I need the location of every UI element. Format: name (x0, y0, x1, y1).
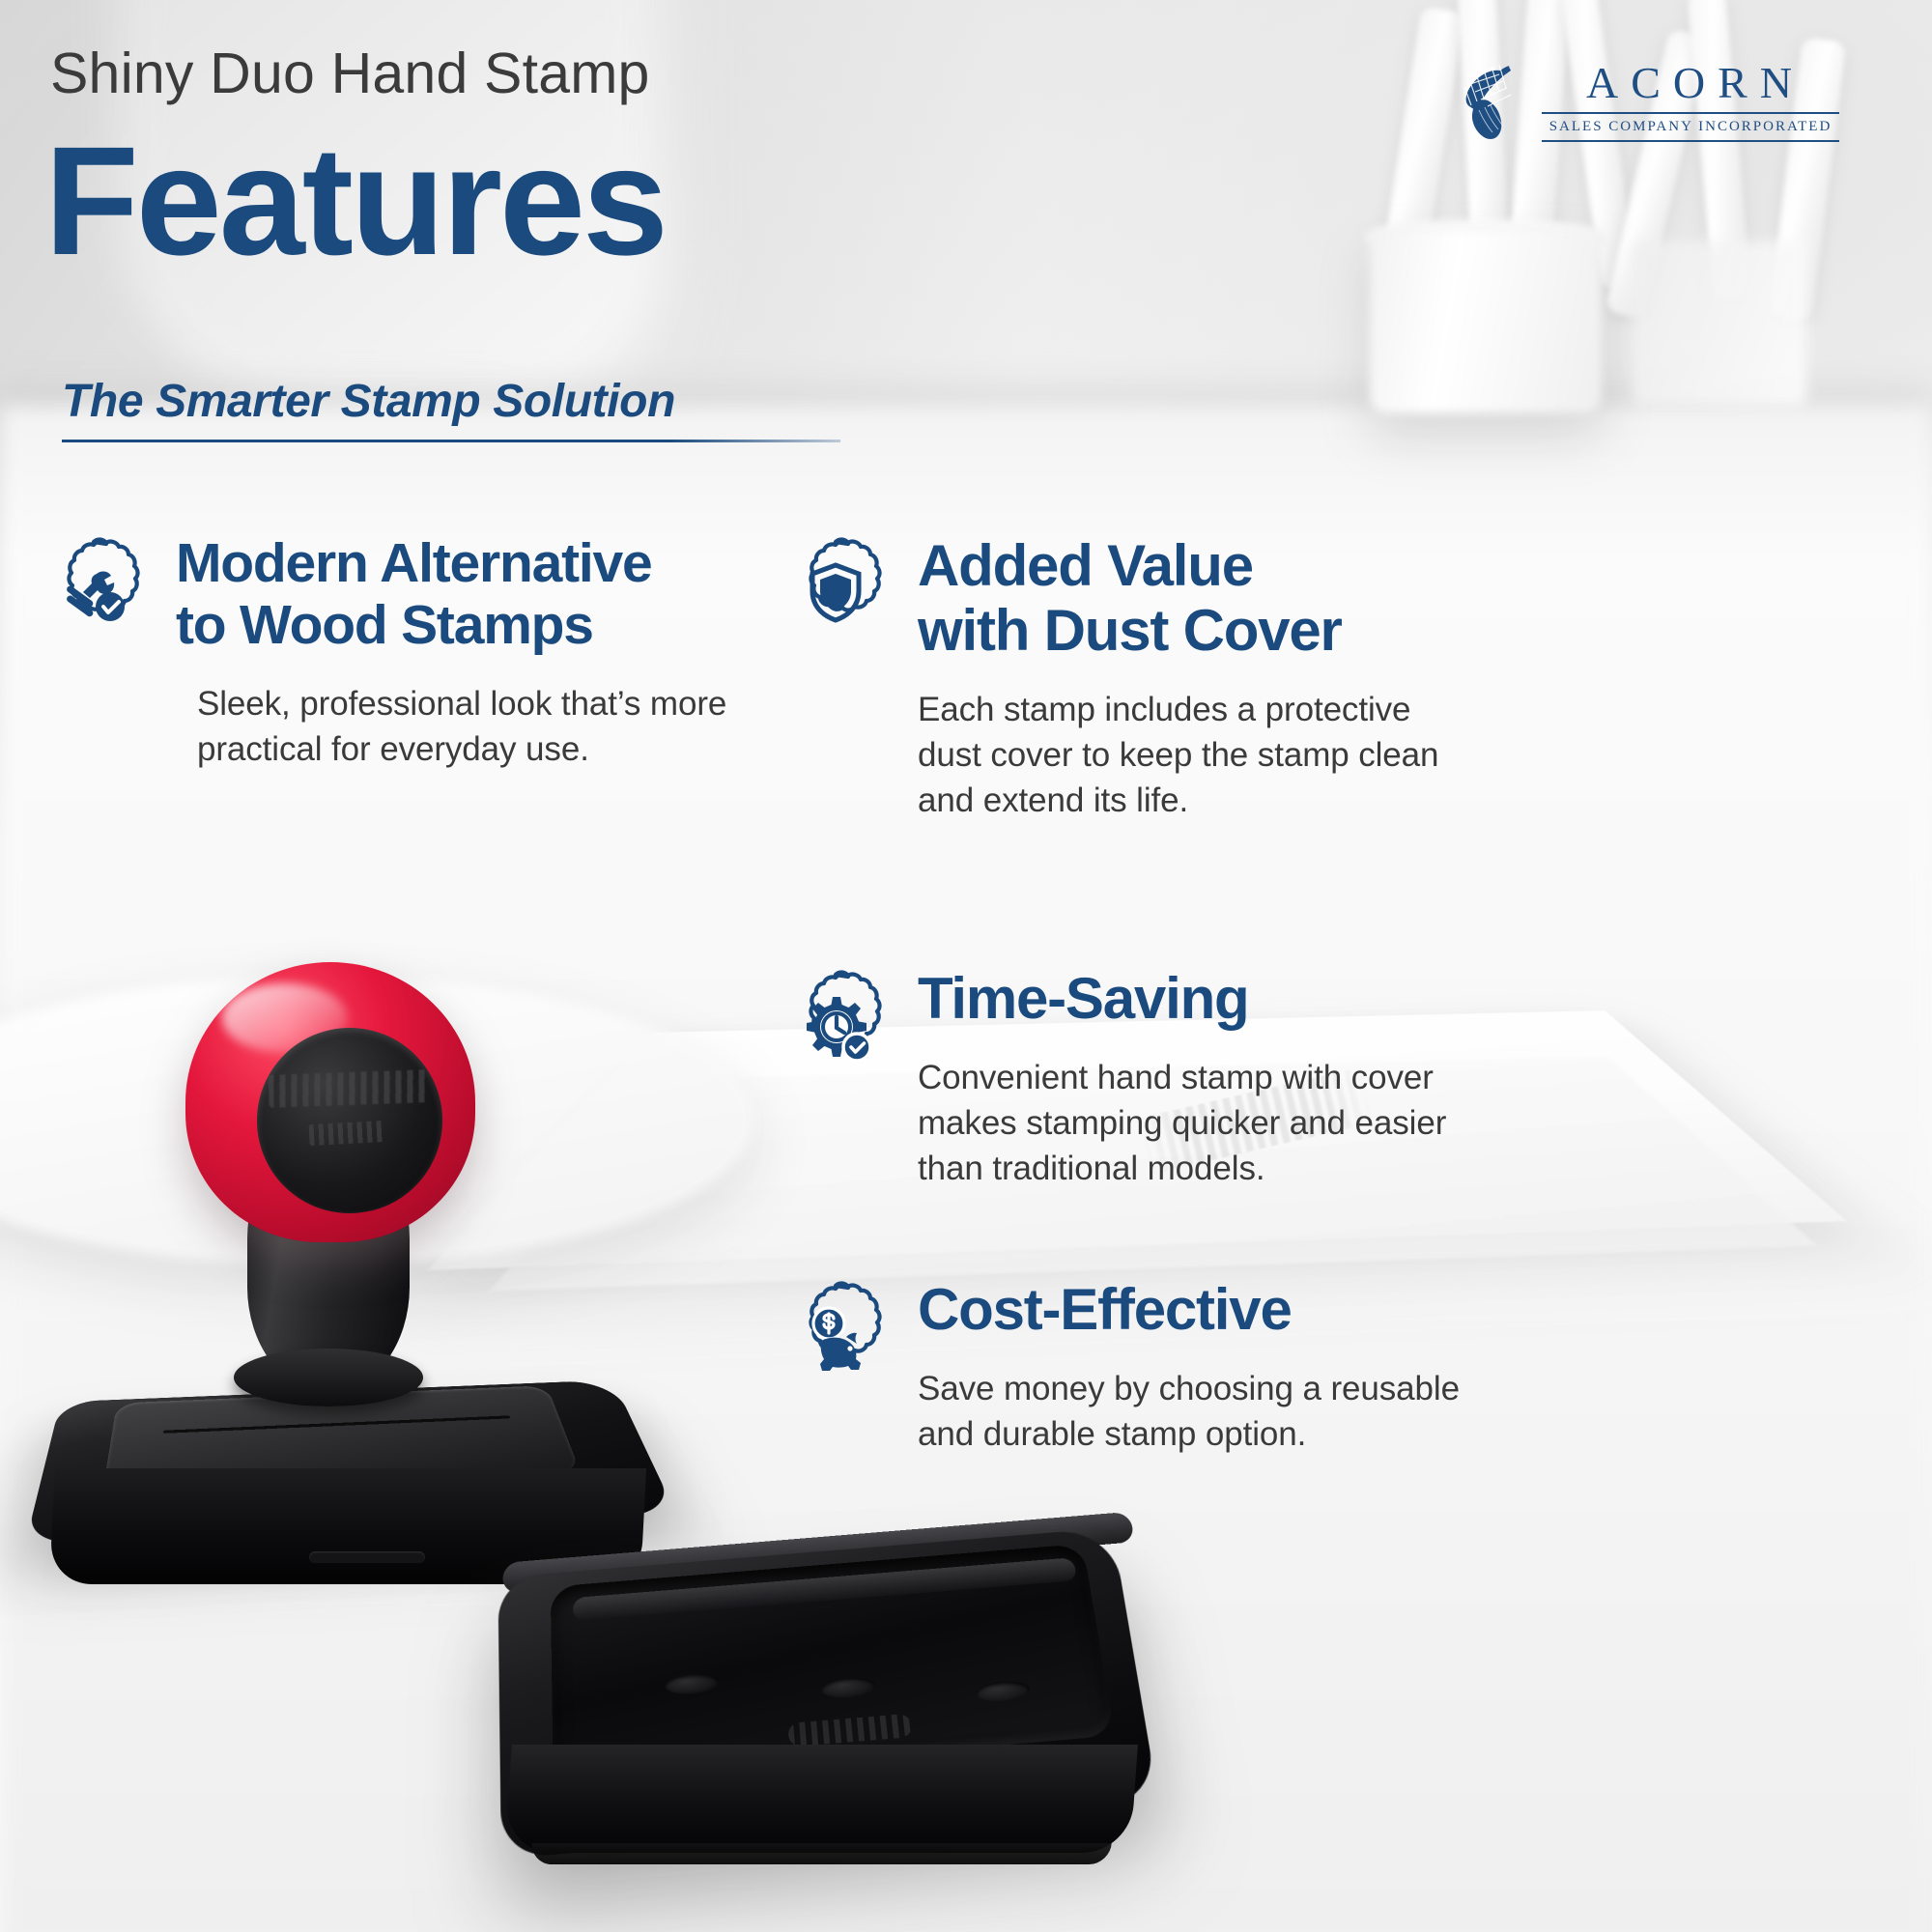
feature-description: Sleek, professional look that’s more pra… (197, 682, 775, 773)
tagline: The Smarter Stamp Solution (62, 375, 840, 428)
piggy-bank-dollar-badge-icon (782, 1281, 889, 1395)
tagline-underline (62, 440, 840, 442)
feature-title-line2: to Wood Stamps (176, 595, 775, 657)
product-name-eyebrow: Shiny Duo Hand Stamp (50, 41, 650, 106)
stamp-base-notch (309, 1551, 425, 1563)
gear-clock-check-badge-icon (782, 970, 889, 1084)
feature-title-line1: Time-Saving (918, 966, 1497, 1031)
brand-logo[interactable]: ACORN SALES COMPANY INCORPORATED (1453, 54, 1839, 147)
feature-body: Cost-Effective Save money by choosing a … (918, 1277, 1497, 1458)
feature-modern-alternative: Modern Alternative to Wood Stamps Sleek,… (41, 533, 775, 772)
dust-cover-front-face (504, 1745, 1138, 1853)
acorn-icon (1453, 60, 1528, 141)
feature-body: Modern Alternative to Wood Stamps Sleek,… (176, 533, 775, 772)
logo-divider-bottom (1542, 140, 1839, 142)
feature-title-line2: with Dust Cover (918, 598, 1478, 663)
logo-company-name: ACORN (1542, 61, 1839, 105)
stamp-black-cap (257, 1028, 442, 1213)
feature-description: Convenient hand stamp with cover makes s… (918, 1056, 1497, 1192)
logo-divider (1542, 112, 1839, 114)
page-title: Features (44, 124, 666, 278)
logo-tagline: SALES COMPANY INCORPORATED (1542, 119, 1839, 135)
feature-title: Modern Alternative to Wood Stamps (176, 533, 775, 657)
stamp-brand-emboss (268, 1069, 427, 1108)
feature-title: Cost-Effective (918, 1277, 1497, 1342)
feature-added-value: Added Value with Dust Cover Each stamp i… (782, 533, 1478, 824)
pencil-cup-secondary (1633, 241, 1806, 406)
feature-title: Time-Saving (918, 966, 1497, 1031)
feature-body: Time-Saving Convenient hand stamp with c… (918, 966, 1497, 1192)
pencil-cup (1370, 230, 1602, 413)
stamp-handle-collar (234, 1349, 423, 1406)
feature-description: Each stamp includes a protective dust co… (918, 688, 1478, 824)
stamp-tool-check-badge-icon (41, 537, 147, 651)
feature-body: Added Value with Dust Cover Each stamp i… (918, 533, 1478, 824)
tagline-group: The Smarter Stamp Solution (62, 375, 840, 442)
shield-badge-icon (782, 537, 889, 651)
product-image-dust-cover (481, 1449, 1186, 1903)
feature-title-line1: Cost-Effective (918, 1277, 1497, 1342)
stamp-duo-emboss (308, 1121, 384, 1146)
logo-wordmark: ACORN SALES COMPANY INCORPORATED (1542, 59, 1839, 142)
feature-title-line1: Added Value (918, 533, 1478, 598)
dust-cover-foot (530, 1843, 1112, 1864)
feature-description: Save money by choosing a reusable and du… (918, 1367, 1497, 1458)
feature-title: Added Value with Dust Cover (918, 533, 1478, 663)
feature-title-line1: Modern Alternative (176, 533, 775, 595)
feature-cost-effective: Cost-Effective Save money by choosing a … (782, 1277, 1497, 1458)
feature-time-saving: Time-Saving Convenient hand stamp with c… (782, 966, 1497, 1192)
